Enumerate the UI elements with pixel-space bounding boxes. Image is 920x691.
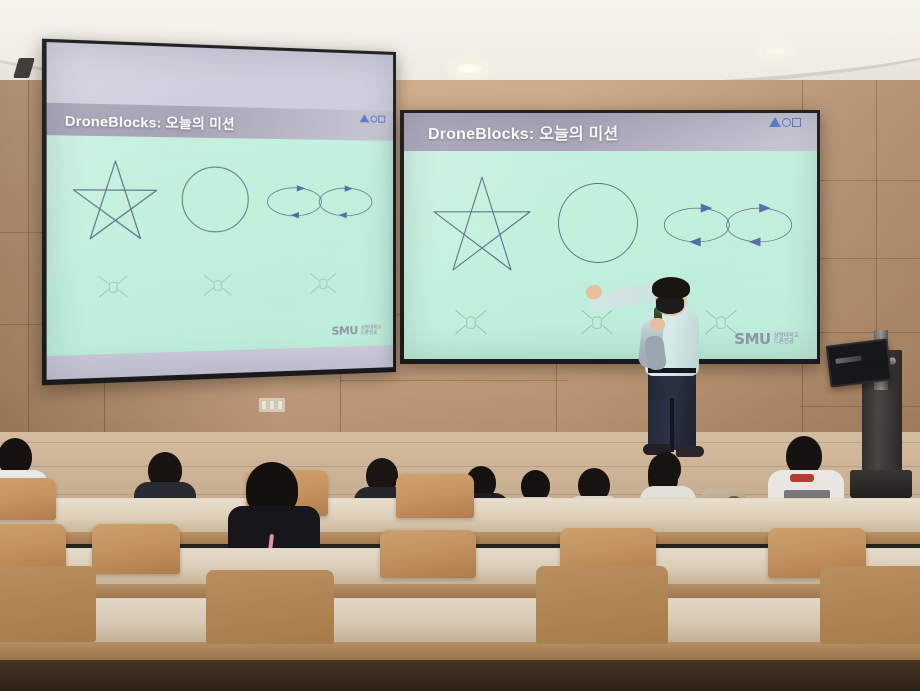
wall-seam [28,80,29,460]
square-icon [378,116,385,123]
chair[interactable] [206,570,334,644]
chair[interactable] [0,478,56,520]
square-icon [792,118,801,127]
smu-footer-logo: SMU 상명대학교 드론전공 [331,324,381,336]
student-body [228,506,320,554]
right-projection-screen: DroneBlocks: 오늘의 미션 [400,110,820,364]
light-switch-plate[interactable] [259,398,285,412]
wall-seam [800,406,920,407]
mission-star-shape [72,157,159,243]
light-switch-icon[interactable] [277,400,283,410]
drone-icon [450,306,492,338]
chair[interactable] [820,566,920,644]
lectern-base [850,470,912,498]
circle-icon [782,118,791,127]
smu-footer-logo: SMU 상명대학교 드론전공 [734,332,799,347]
drone-icon [306,270,340,297]
left-screen-surface: DroneBlocks: 오늘의 미션 [47,42,393,380]
presenter-mic-hand [650,318,665,331]
presenter-shoe [676,446,704,457]
mission-star-shape [432,173,532,275]
jersey-collar [790,474,814,482]
light-switch-icon[interactable] [269,400,275,410]
student-head [651,452,681,485]
presenter-leg-gap [670,398,674,452]
right-slide-header: DroneBlocks: 오늘의 미션 [404,113,817,151]
podium-monitor[interactable] [826,338,893,387]
lecture-hall-photo: DroneBlocks: 오늘의 미션 [0,0,920,691]
chair[interactable] [0,566,96,642]
drone-education-logo [769,117,801,127]
triangle-icon [769,117,781,127]
mission-circle-shape [180,165,250,234]
wall-seam [340,380,568,381]
smu-line2: 드론전공 [361,330,381,335]
chair[interactable] [92,524,180,574]
face-mask-icon [656,297,684,314]
right-slide: DroneBlocks: 오늘의 미션 [404,113,817,359]
mission-circle-shape [556,181,640,265]
downlight-icon [452,62,486,75]
light-switch-icon[interactable] [261,400,267,410]
mission-figure8-shape [654,199,802,251]
mission-figure8-shape [265,180,374,223]
left-slide-body: SMU 상명대학교 드론전공 [47,135,393,356]
left-slide: DroneBlocks: 오늘의 미션 [47,103,393,356]
smu-line2: 드론전공 [774,340,799,346]
slide-title: DroneBlocks: 오늘의 미션 [65,109,235,133]
chair[interactable] [380,530,476,578]
chair[interactable] [536,566,668,644]
circle-icon [370,115,377,122]
presenter-hair [652,277,690,299]
downlight-icon [762,46,788,56]
right-slide-body: SMU 상명대학교 드론전공 [404,151,817,359]
floor-shadow [0,660,920,691]
right-screen-surface: DroneBlocks: 오늘의 미션 [404,113,817,359]
chair[interactable] [396,474,474,518]
smu-mark: SMU [734,332,770,347]
triangle-icon [359,114,369,122]
drone-icon [94,273,132,301]
smu-mark: SMU [331,325,357,337]
drone-education-logo [359,114,385,123]
slide-title: DroneBlocks: 오늘의 미션 [428,120,618,144]
drone-icon [199,271,235,299]
left-projection-screen: DroneBlocks: 오늘의 미션 [42,39,396,386]
